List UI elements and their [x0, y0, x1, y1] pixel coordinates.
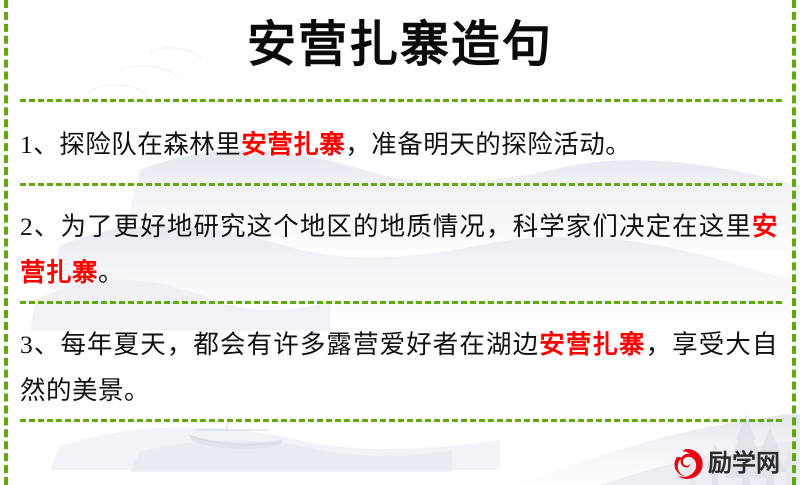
- sentence-item-1: 1、探险队在森林里安营扎寨，准备明天的探险活动。: [20, 122, 778, 168]
- sentence-item-3: 3、每年夏天，都会有许多露营爱好者在湖边安营扎寨，享受大自然的美景。: [20, 322, 778, 414]
- sentence-3-number: 3、: [20, 330, 60, 359]
- sentence-1-text-before: 探险队在森林里: [59, 130, 241, 159]
- sentence-3-keyword: 安营扎寨: [539, 330, 645, 359]
- divider-sentence-2: [20, 301, 782, 304]
- sentence-2-text-before: 为了更好地研究这个地区的地质情况，科学家们决定在这里: [60, 212, 752, 241]
- divider-sentence-1: [20, 183, 782, 186]
- sentence-2-text-after: 。: [98, 258, 124, 287]
- sentence-1-number: 1、: [20, 130, 59, 159]
- divider-sentence-3: [20, 419, 782, 422]
- sentence-2-number: 2、: [20, 212, 60, 241]
- page-title: 安营扎寨造句: [0, 14, 800, 76]
- sentence-item-2: 2、为了更好地研究这个地区的地质情况，科学家们决定在这里安营扎寨。: [20, 204, 778, 296]
- red-swirl-bird-icon: [670, 447, 704, 481]
- sentence-3-text-before: 每年夏天，都会有许多露营爱好者在湖边: [60, 330, 539, 359]
- site-logo-text: 励学网: [708, 452, 780, 476]
- sentence-1-text-after: ，准备明天的探险活动。: [345, 130, 631, 159]
- worksheet-page: 安营扎寨造句 1、探险队在森林里安营扎寨，准备明天的探险活动。 2、为了更好地研…: [0, 0, 800, 485]
- sentence-1-keyword: 安营扎寨: [241, 130, 345, 159]
- divider-title: [20, 99, 782, 102]
- site-logo[interactable]: 励学网: [670, 447, 780, 481]
